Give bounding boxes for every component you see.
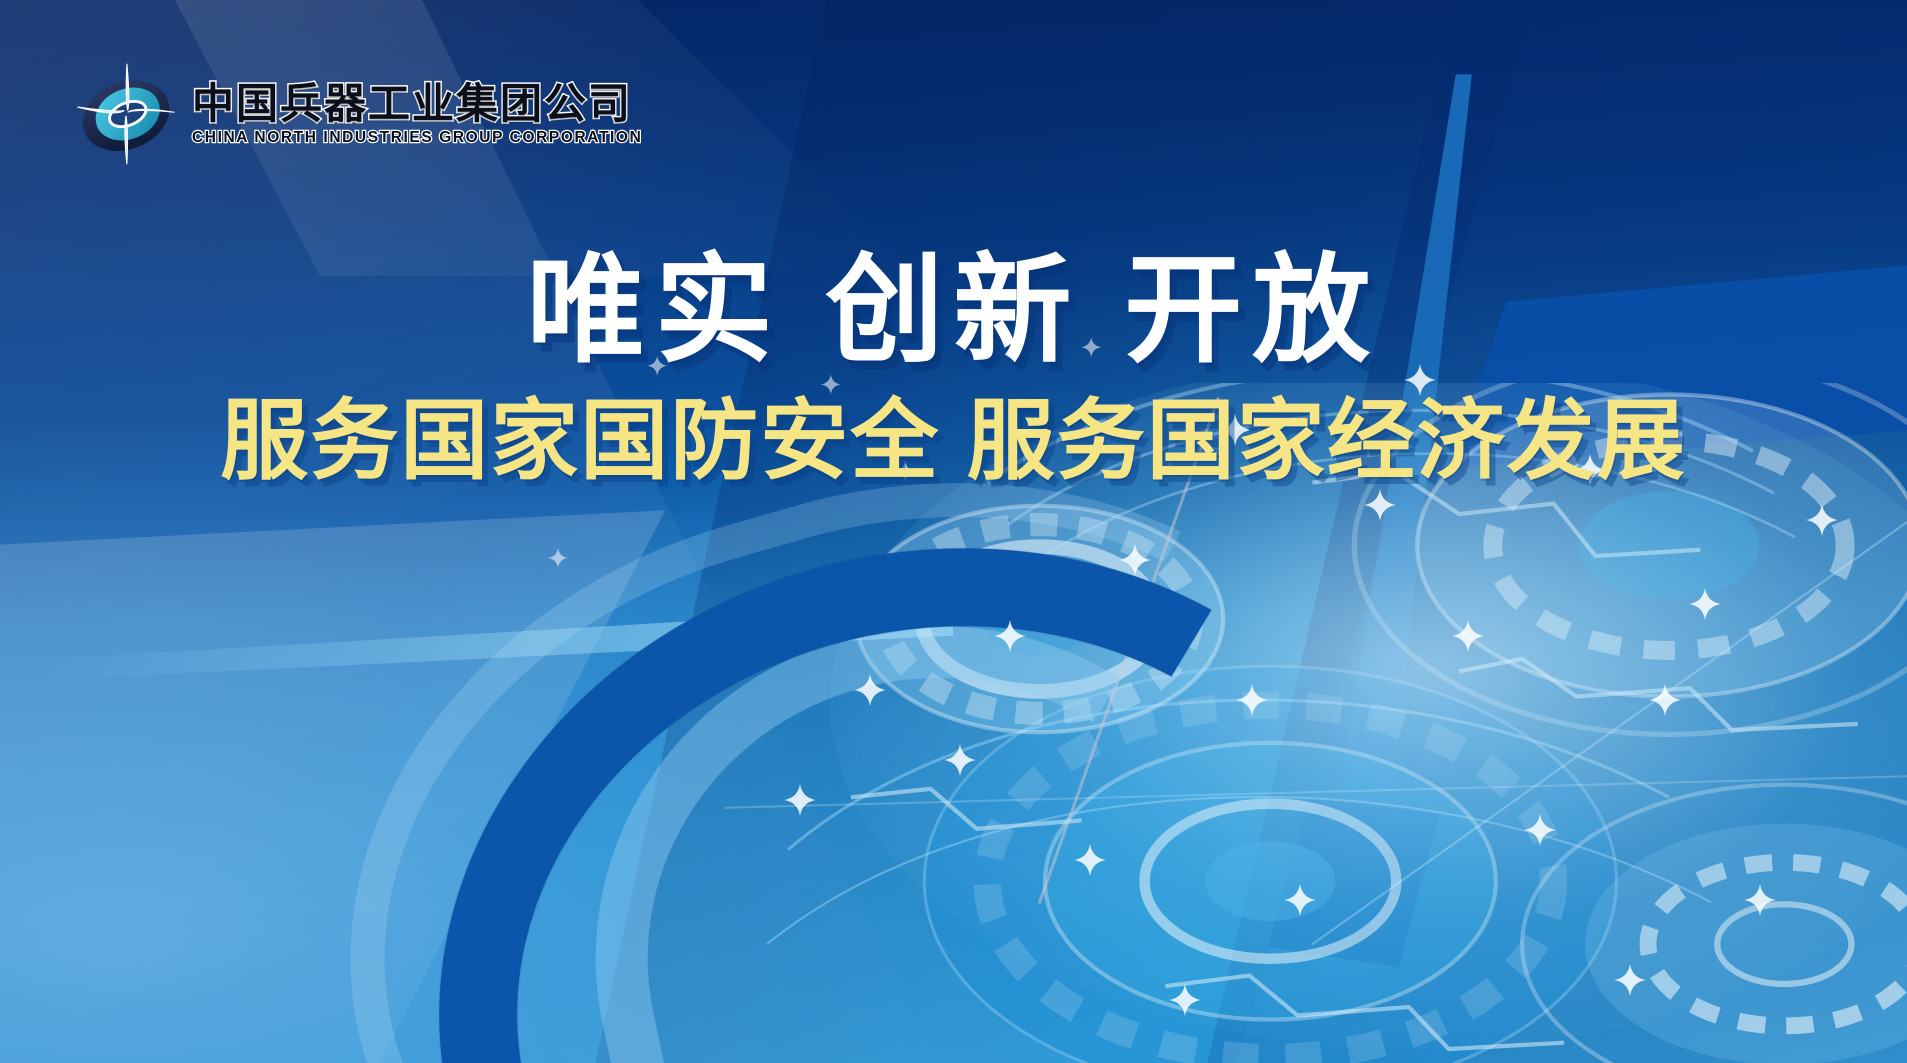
banner-canvas: 中国兵器工业集团公司 CHINA NORTH INDUSTRIES GROUP … xyxy=(0,0,1907,1063)
compass-star-emblem-icon xyxy=(74,62,178,166)
brand-logo: 中国兵器工业集团公司 CHINA NORTH INDUSTRIES GROUP … xyxy=(74,62,642,166)
brand-name-cn: 中国兵器工业集团公司 xyxy=(192,83,642,125)
brand-name-en: CHINA NORTH INDUSTRIES GROUP CORPORATION xyxy=(192,130,642,146)
subheadline-slogan: 服务国家国防安全 服务国家经济发展 xyxy=(0,370,1907,497)
headline-slogan: 唯实 创新 开放 xyxy=(0,214,1907,385)
